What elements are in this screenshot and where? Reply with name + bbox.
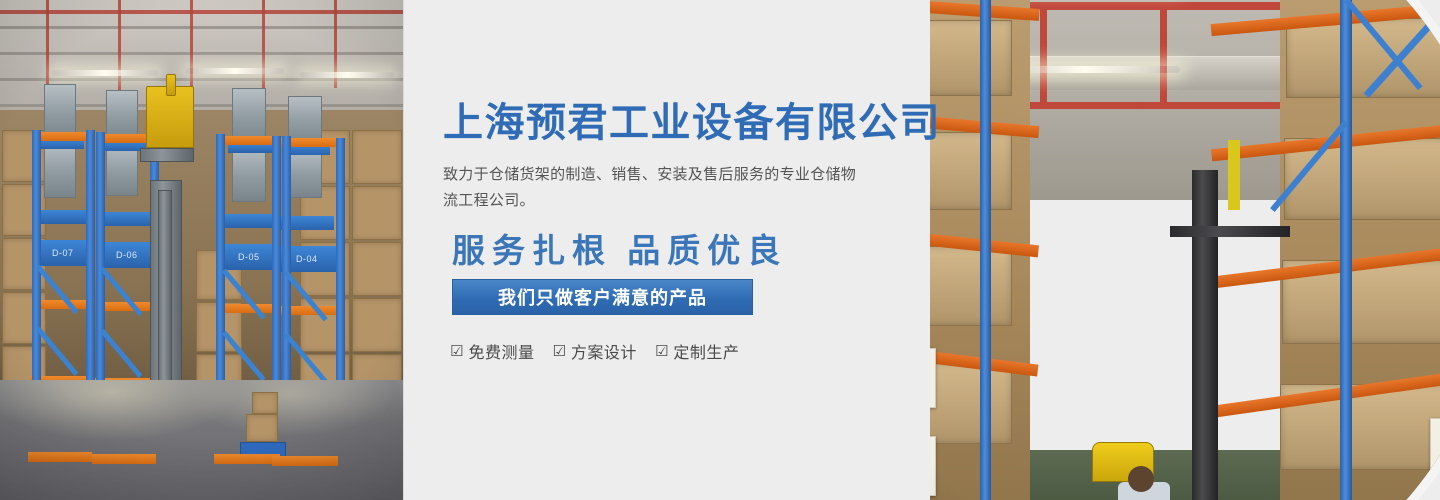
feature-list: ☑ 免费测量 ☑ 方案设计 ☑ 定制生产: [450, 339, 739, 363]
aisle-code-sign: Y3: [930, 436, 936, 496]
left-photo-vignette: [0, 0, 403, 500]
forklift-mast: [1192, 170, 1218, 500]
right-photo-scene: Foxconn Foxconn Foxconn Foxconn: [930, 0, 1440, 500]
feature-item-custom-production: ☑ 定制生产: [655, 339, 739, 363]
feature-label: 免费测量: [468, 339, 534, 363]
right-warehouse-photo: Foxconn Foxconn Foxconn Foxconn: [930, 0, 1440, 500]
aisle-code-sign-right: Y3: [1430, 418, 1440, 474]
company-description: 致力于仓储货架的制造、销售、安装及售后服务的专业仓储物流工程公司。: [443, 162, 861, 213]
hero-banner: D-07 D-06 D-05 D-04: [0, 0, 1440, 500]
cta-banner-button[interactable]: 我们只做客户满意的产品: [452, 279, 753, 315]
circular-photo-mask: Foxconn Foxconn Foxconn Foxconn: [930, 0, 1440, 500]
feature-item-solution-design: ☑ 方案设计: [552, 339, 636, 363]
banner-content: 上海预君工业设备有限公司 致力于仓储货架的制造、销售、安装及售后服务的专业仓储物…: [443, 0, 913, 500]
left-warehouse-photo: D-07 D-06 D-05 D-04: [0, 0, 404, 500]
checkbox-checked-icon: ☑: [552, 344, 565, 359]
left-photo-scene: D-07 D-06 D-05 D-04: [0, 0, 403, 500]
feature-item-free-measurement: ☑ 免费测量: [450, 339, 534, 363]
company-name-heading: 上海预君工业设备有限公司: [443, 101, 941, 145]
feature-label: 方案设计: [571, 339, 637, 363]
slogan-text: 服务扎根 品质优良: [452, 224, 787, 272]
safety-warning-sign: 安全来于警惕, 事故出于麻痹.: [930, 348, 936, 408]
feature-label: 定制生产: [673, 339, 739, 363]
checkbox-checked-icon: ☑: [655, 344, 668, 359]
checkbox-checked-icon: ☑: [450, 344, 463, 359]
